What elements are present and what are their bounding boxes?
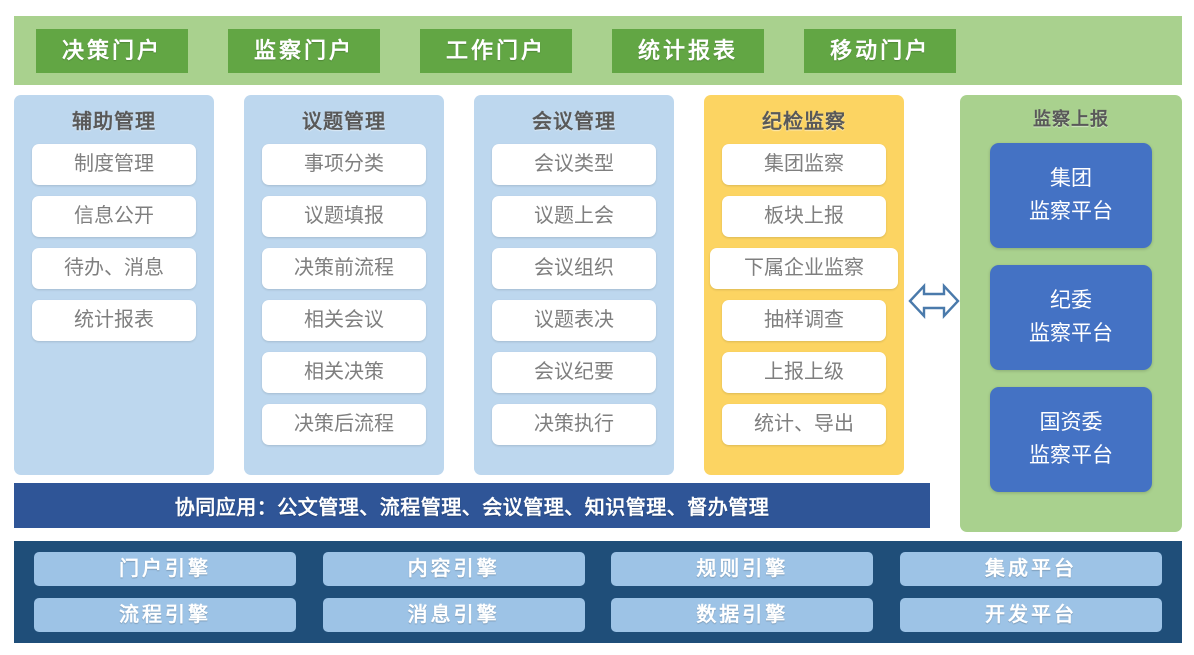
- module-column-discipline-inspection: 纪检监察 集团监察 板块上报 下属企业监察 抽样调查 上报上级 统计、导出: [704, 95, 904, 475]
- module-item[interactable]: 信息公开: [32, 196, 196, 237]
- module-item[interactable]: 决策前流程: [262, 248, 426, 289]
- module-item[interactable]: 议题表决: [492, 300, 656, 341]
- module-item[interactable]: 板块上报: [722, 196, 886, 237]
- module-item[interactable]: 统计报表: [32, 300, 196, 341]
- collaboration-application-bar: 协同应用：公文管理、流程管理、会议管理、知识管理、督办管理: [14, 483, 930, 528]
- column-title: 会议管理: [474, 105, 674, 134]
- column-title: 纪检监察: [704, 105, 904, 134]
- module-column-meeting-management: 会议管理 会议类型 议题上会 会议组织 议题表决 会议纪要 决策执行: [474, 95, 674, 475]
- platform-line2: 监察平台: [1029, 318, 1113, 351]
- module-item[interactable]: 上报上级: [722, 352, 886, 393]
- platform-line2: 监察平台: [1029, 196, 1113, 229]
- module-item[interactable]: 会议类型: [492, 144, 656, 185]
- module-item[interactable]: 会议纪要: [492, 352, 656, 393]
- engine-button-data[interactable]: 数据引擎: [611, 598, 873, 632]
- module-column-auxiliary-management: 辅助管理 制度管理 信息公开 待办、消息 统计报表: [14, 95, 214, 475]
- double-arrow-horizontal-icon: [908, 278, 960, 324]
- module-item[interactable]: 会议组织: [492, 248, 656, 289]
- module-item[interactable]: 待办、消息: [32, 248, 196, 289]
- portal-button-work[interactable]: 工作门户: [420, 29, 572, 73]
- module-item[interactable]: 抽样调查: [722, 300, 886, 341]
- module-item[interactable]: 事项分类: [262, 144, 426, 185]
- module-item[interactable]: 决策执行: [492, 404, 656, 445]
- platform-line1: 纪委: [1050, 285, 1092, 318]
- engine-button-integration-platform[interactable]: 集成平台: [900, 552, 1162, 586]
- module-item[interactable]: 议题填报: [262, 196, 426, 237]
- engine-row-bottom: 流程引擎 消息引擎 数据引擎 开发平台: [34, 598, 1162, 632]
- portal-button-supervision[interactable]: 监察门户: [228, 29, 380, 73]
- engine-platform-panel: 门户引擎 内容引擎 规则引擎 集成平台 流程引擎 消息引擎 数据引擎 开发平台: [14, 541, 1182, 643]
- engine-button-portal[interactable]: 门户引擎: [34, 552, 296, 586]
- module-item[interactable]: 制度管理: [32, 144, 196, 185]
- platform-line1: 国资委: [1040, 407, 1103, 440]
- engine-button-message[interactable]: 消息引擎: [323, 598, 585, 632]
- right-panel-title: 监察上报: [960, 105, 1182, 131]
- module-item[interactable]: 集团监察: [722, 144, 886, 185]
- platform-line2: 监察平台: [1029, 440, 1113, 473]
- module-item[interactable]: 议题上会: [492, 196, 656, 237]
- portal-button-statistics[interactable]: 统计报表: [612, 29, 764, 73]
- module-area: 辅助管理 制度管理 信息公开 待办、消息 统计报表 议题管理 事项分类 议题填报…: [0, 95, 1194, 535]
- module-column-topic-management: 议题管理 事项分类 议题填报 决策前流程 相关会议 相关决策 决策后流程: [244, 95, 444, 475]
- portal-band: 决策门户 监察门户 工作门户 统计报表 移动门户: [14, 16, 1182, 85]
- portal-button-mobile[interactable]: 移动门户: [804, 29, 956, 73]
- engine-row-top: 门户引擎 内容引擎 规则引擎 集成平台: [34, 552, 1162, 586]
- module-item[interactable]: 相关会议: [262, 300, 426, 341]
- platform-card-group[interactable]: 集团 监察平台: [990, 143, 1152, 248]
- module-item[interactable]: 决策后流程: [262, 404, 426, 445]
- column-title: 辅助管理: [14, 105, 214, 134]
- platform-line1: 集团: [1050, 163, 1092, 196]
- module-item[interactable]: 统计、导出: [722, 404, 886, 445]
- portal-button-decision[interactable]: 决策门户: [36, 29, 188, 73]
- platform-card-sasac[interactable]: 国资委 监察平台: [990, 387, 1152, 492]
- engine-button-rule[interactable]: 规则引擎: [611, 552, 873, 586]
- platform-card-discipline-committee[interactable]: 纪委 监察平台: [990, 265, 1152, 370]
- supervision-report-panel: 监察上报 集团 监察平台 纪委 监察平台 国资委 监察平台: [960, 95, 1182, 532]
- module-item[interactable]: 下属企业监察: [710, 248, 898, 289]
- engine-button-development-platform[interactable]: 开发平台: [900, 598, 1162, 632]
- engine-button-content[interactable]: 内容引擎: [323, 552, 585, 586]
- module-item[interactable]: 相关决策: [262, 352, 426, 393]
- column-title: 议题管理: [244, 105, 444, 134]
- engine-button-process[interactable]: 流程引擎: [34, 598, 296, 632]
